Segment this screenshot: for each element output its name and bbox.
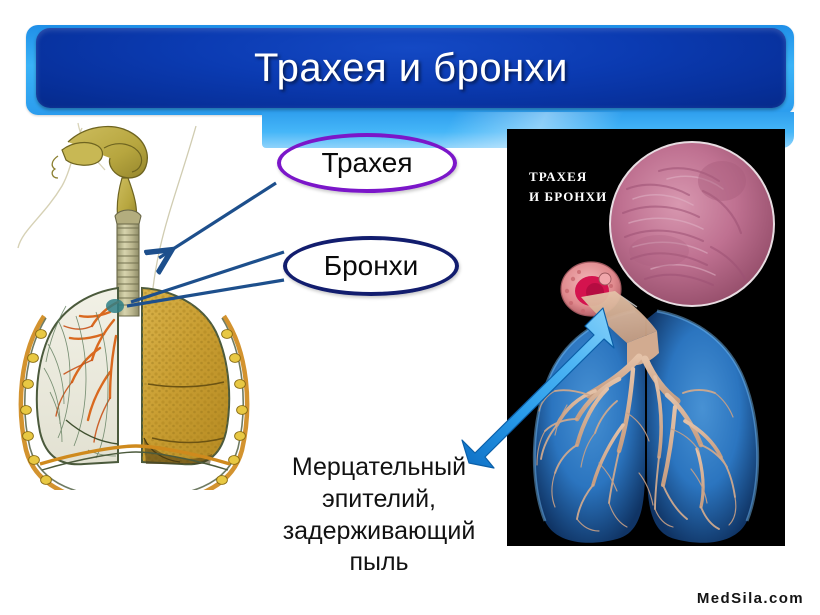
respiratory-system-illustration <box>0 120 272 490</box>
head-airway-art <box>52 127 147 220</box>
caption-line-1: Мерцательный <box>248 452 510 484</box>
callout-bronchi[interactable]: Бронхи <box>283 236 459 296</box>
epithelium-caption: Мерцательный эпителий, задерживающий пыл… <box>248 452 510 579</box>
caption-line-4: пыль <box>248 547 510 579</box>
right-lung-art <box>142 288 229 464</box>
caption-line-3: задерживающий <box>248 516 510 548</box>
callout-trachea[interactable]: Трахея <box>277 133 457 193</box>
panel-caption-line-1: ТРАХЕЯ <box>529 167 607 187</box>
ciliated-epithelium-micrograph <box>610 142 774 306</box>
panel-caption-line-2: И БРОНХИ <box>529 187 607 207</box>
title-plate: Трахея и бронхи <box>36 28 786 108</box>
panel-caption: ТРАХЕЯ И БРОНХИ <box>529 167 607 207</box>
callout-bronchi-label: Бронхи <box>324 252 419 280</box>
caption-line-2: эпителий, <box>248 484 510 516</box>
slide-canvas: Трахея и бронхи <box>0 0 820 615</box>
callout-trachea-label: Трахея <box>321 149 412 177</box>
left-lung-art <box>37 288 124 464</box>
page-title: Трахея и бронхи <box>254 46 568 91</box>
watermark: MedSila.com <box>697 590 804 607</box>
bronchi-photo-panel: ТРАХЕЯ И БРОНХИ <box>507 129 785 546</box>
